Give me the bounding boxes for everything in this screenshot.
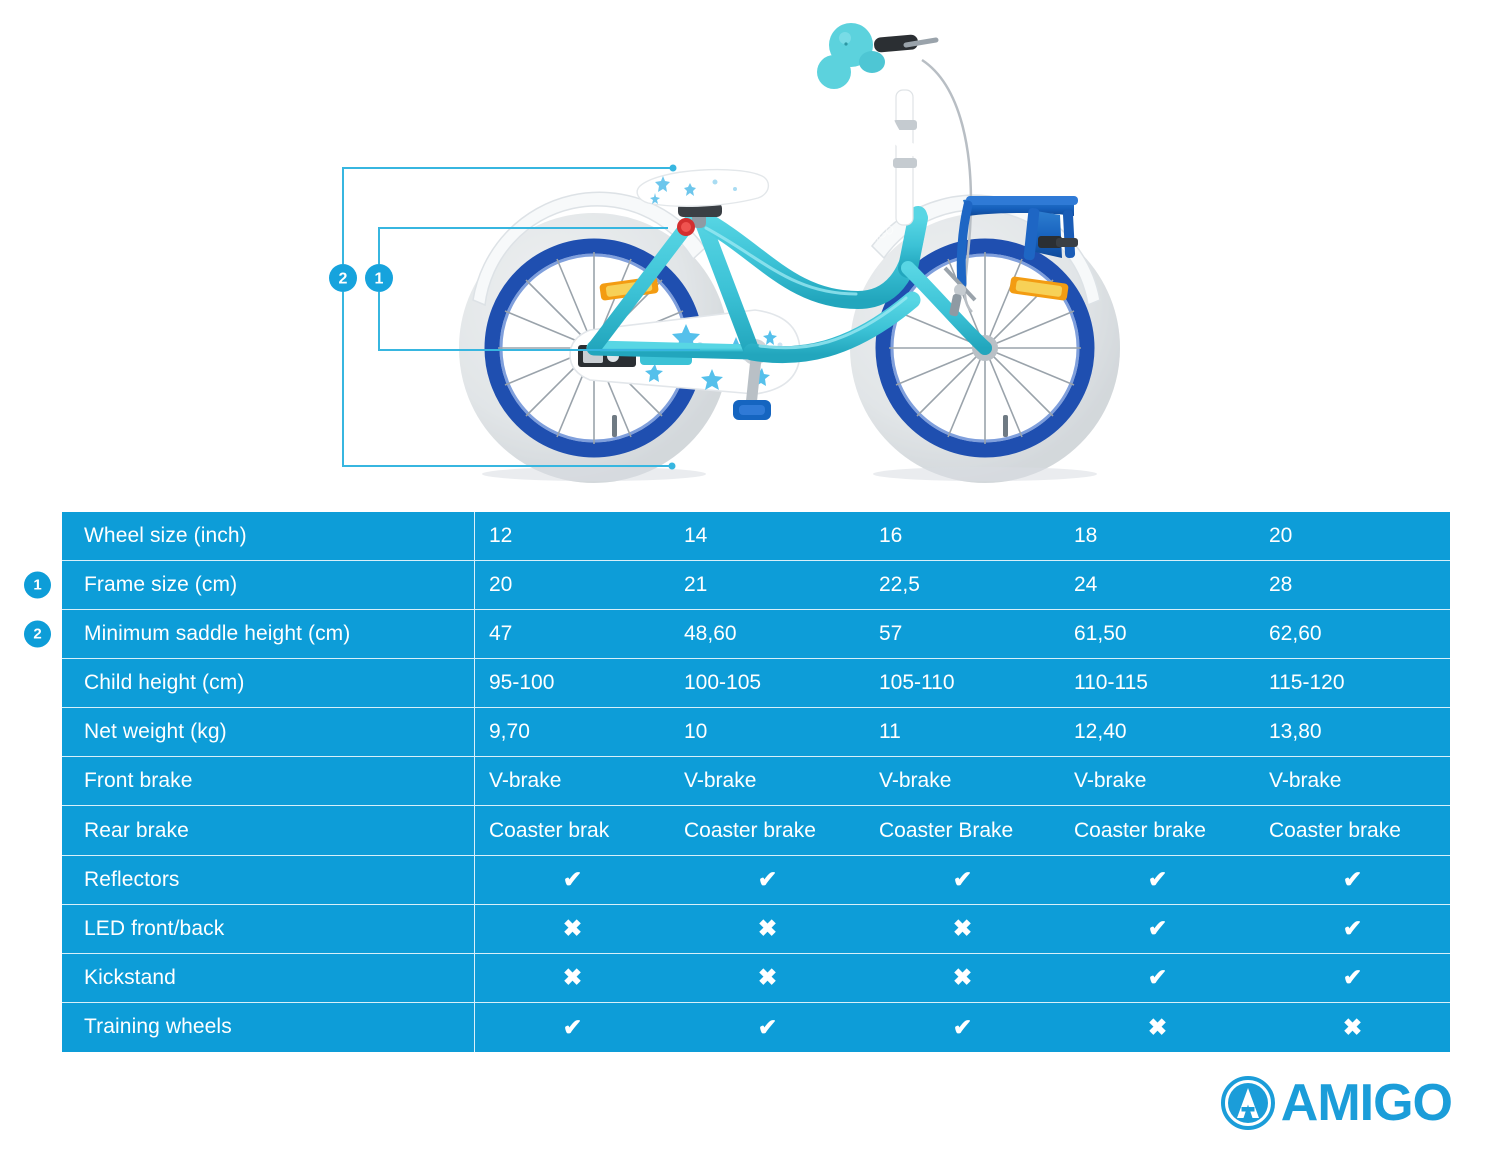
row-badge-1: 1: [24, 572, 51, 599]
row-values: ✖✖✖✔✔: [475, 954, 1450, 1002]
cell-value: Coaster brake: [1255, 806, 1450, 854]
amigo-logo: AMIGO: [1219, 1074, 1452, 1132]
row-values: ✖✖✖✔✔: [475, 905, 1450, 953]
annotation-2-bottom-point: [669, 463, 676, 470]
cell-mark: ✔: [865, 1003, 1060, 1052]
table-row: Reflectors✔✔✔✔✔: [62, 856, 1450, 905]
table-row: Rear brakeCoaster brakCoaster brakeCoast…: [62, 806, 1450, 855]
row-label: Minimum saddle height (cm): [62, 610, 475, 658]
cell-value: 28: [1255, 561, 1450, 609]
cell-value: 48,60: [670, 610, 865, 658]
annotation-bracket-2: [343, 168, 673, 466]
row-values: 202122,52428: [475, 561, 1450, 609]
row-values: ✔✔✔✖✖: [475, 1003, 1450, 1052]
cell-mark: ✔: [1255, 856, 1450, 904]
row-label: Rear brake: [62, 806, 475, 854]
cell-value: Coaster brak: [475, 806, 670, 854]
row-values: V-brakeV-brakeV-brakeV-brakeV-brake: [475, 757, 1450, 805]
row-badge-2: 2: [24, 621, 51, 648]
cell-mark: ✔: [1060, 954, 1255, 1002]
cell-value: 14: [670, 512, 865, 560]
amigo-a-mark-icon: [1219, 1074, 1277, 1132]
table-row: Net weight (kg)9,70101112,4013,80: [62, 708, 1450, 757]
cell-value: 12: [475, 512, 670, 560]
row-label: LED front/back: [62, 905, 475, 953]
cell-value: 24: [1060, 561, 1255, 609]
cell-value: 21: [670, 561, 865, 609]
cell-mark: ✔: [670, 1003, 865, 1052]
measurement-annotations: 2 1: [0, 0, 1500, 500]
cell-value: Coaster Brake: [865, 806, 1060, 854]
row-label: Reflectors: [62, 856, 475, 904]
annotation-badge-1: 1: [365, 264, 393, 292]
row-label: Net weight (kg): [62, 708, 475, 756]
row-label: Kickstand: [62, 954, 475, 1002]
annotation-badge-2: 2: [329, 264, 357, 292]
bike-size-chart-page: AMIGO AMIGO: [0, 0, 1500, 1150]
cell-value: 62,60: [1255, 610, 1450, 658]
cell-value: 110-115: [1060, 659, 1255, 707]
row-values: 4748,605761,5062,60: [475, 610, 1450, 658]
cell-value: 47: [475, 610, 670, 658]
row-values: 9,70101112,4013,80: [475, 708, 1450, 756]
cell-value: V-brake: [1255, 757, 1450, 805]
row-values: 1214161820: [475, 512, 1450, 560]
cell-value: 18: [1060, 512, 1255, 560]
row-label: Child height (cm): [62, 659, 475, 707]
row-label: Training wheels: [62, 1003, 475, 1052]
row-label: Front brake: [62, 757, 475, 805]
cell-mark: ✔: [1255, 954, 1450, 1002]
cell-value: 105-110: [865, 659, 1060, 707]
cell-value: 115-120: [1255, 659, 1450, 707]
cell-value: 61,50: [1060, 610, 1255, 658]
cell-value: 10: [670, 708, 865, 756]
cell-mark: ✔: [1060, 856, 1255, 904]
cell-value: 9,70: [475, 708, 670, 756]
cell-value: 12,40: [1060, 708, 1255, 756]
cell-mark: ✔: [475, 1003, 670, 1052]
cell-value: 20: [475, 561, 670, 609]
cell-mark: ✔: [1255, 905, 1450, 953]
bike-illustration: AMIGO AMIGO: [0, 0, 1500, 500]
table-row: 1Frame size (cm)202122,52428: [62, 561, 1450, 610]
cell-mark: ✖: [1060, 1003, 1255, 1052]
cell-value: 16: [865, 512, 1060, 560]
cell-mark: ✔: [865, 856, 1060, 904]
row-values: Coaster brakCoaster brakeCoaster BrakeCo…: [475, 806, 1450, 854]
cell-value: V-brake: [670, 757, 865, 805]
cell-value: V-brake: [1060, 757, 1255, 805]
cell-mark: ✔: [670, 856, 865, 904]
cell-value: 11: [865, 708, 1060, 756]
table-row: Front brakeV-brakeV-brakeV-brakeV-brakeV…: [62, 757, 1450, 806]
table-row: Child height (cm)95-100100-105105-110110…: [62, 659, 1450, 708]
row-values: ✔✔✔✔✔: [475, 856, 1450, 904]
cell-value: 13,80: [1255, 708, 1450, 756]
amigo-logo-wordmark: AMIGO: [1281, 1077, 1452, 1129]
cell-value: 22,5: [865, 561, 1060, 609]
annotation-bracket-1: [379, 228, 700, 350]
table-row: Training wheels✔✔✔✖✖: [62, 1003, 1450, 1052]
cell-mark: ✖: [670, 954, 865, 1002]
specification-table: Wheel size (inch)12141618201Frame size (…: [62, 512, 1450, 1052]
cell-mark: ✖: [670, 905, 865, 953]
row-values: 95-100100-105105-110110-115115-120: [475, 659, 1450, 707]
cell-value: Coaster brake: [1060, 806, 1255, 854]
cell-value: V-brake: [865, 757, 1060, 805]
table-row: 2Minimum saddle height (cm)4748,605761,5…: [62, 610, 1450, 659]
cell-mark: ✖: [475, 954, 670, 1002]
cell-value: V-brake: [475, 757, 670, 805]
table-row: Kickstand✖✖✖✔✔: [62, 954, 1450, 1003]
cell-value: Coaster brake: [670, 806, 865, 854]
cell-mark: ✔: [1060, 905, 1255, 953]
cell-mark: ✖: [475, 905, 670, 953]
cell-mark: ✖: [1255, 1003, 1450, 1052]
table-row: LED front/back✖✖✖✔✔: [62, 905, 1450, 954]
cell-value: 57: [865, 610, 1060, 658]
row-label: Frame size (cm): [62, 561, 475, 609]
cell-value: 95-100: [475, 659, 670, 707]
table-row: Wheel size (inch)1214161820: [62, 512, 1450, 561]
row-label: Wheel size (inch): [62, 512, 475, 560]
cell-mark: ✖: [865, 905, 1060, 953]
cell-mark: ✔: [475, 856, 670, 904]
cell-value: 100-105: [670, 659, 865, 707]
cell-mark: ✖: [865, 954, 1060, 1002]
annotation-2-top-point: [670, 165, 677, 172]
annotation-badge-1-label: 1: [375, 271, 384, 288]
annotation-badge-2-label: 2: [339, 271, 348, 288]
cell-value: 20: [1255, 512, 1450, 560]
